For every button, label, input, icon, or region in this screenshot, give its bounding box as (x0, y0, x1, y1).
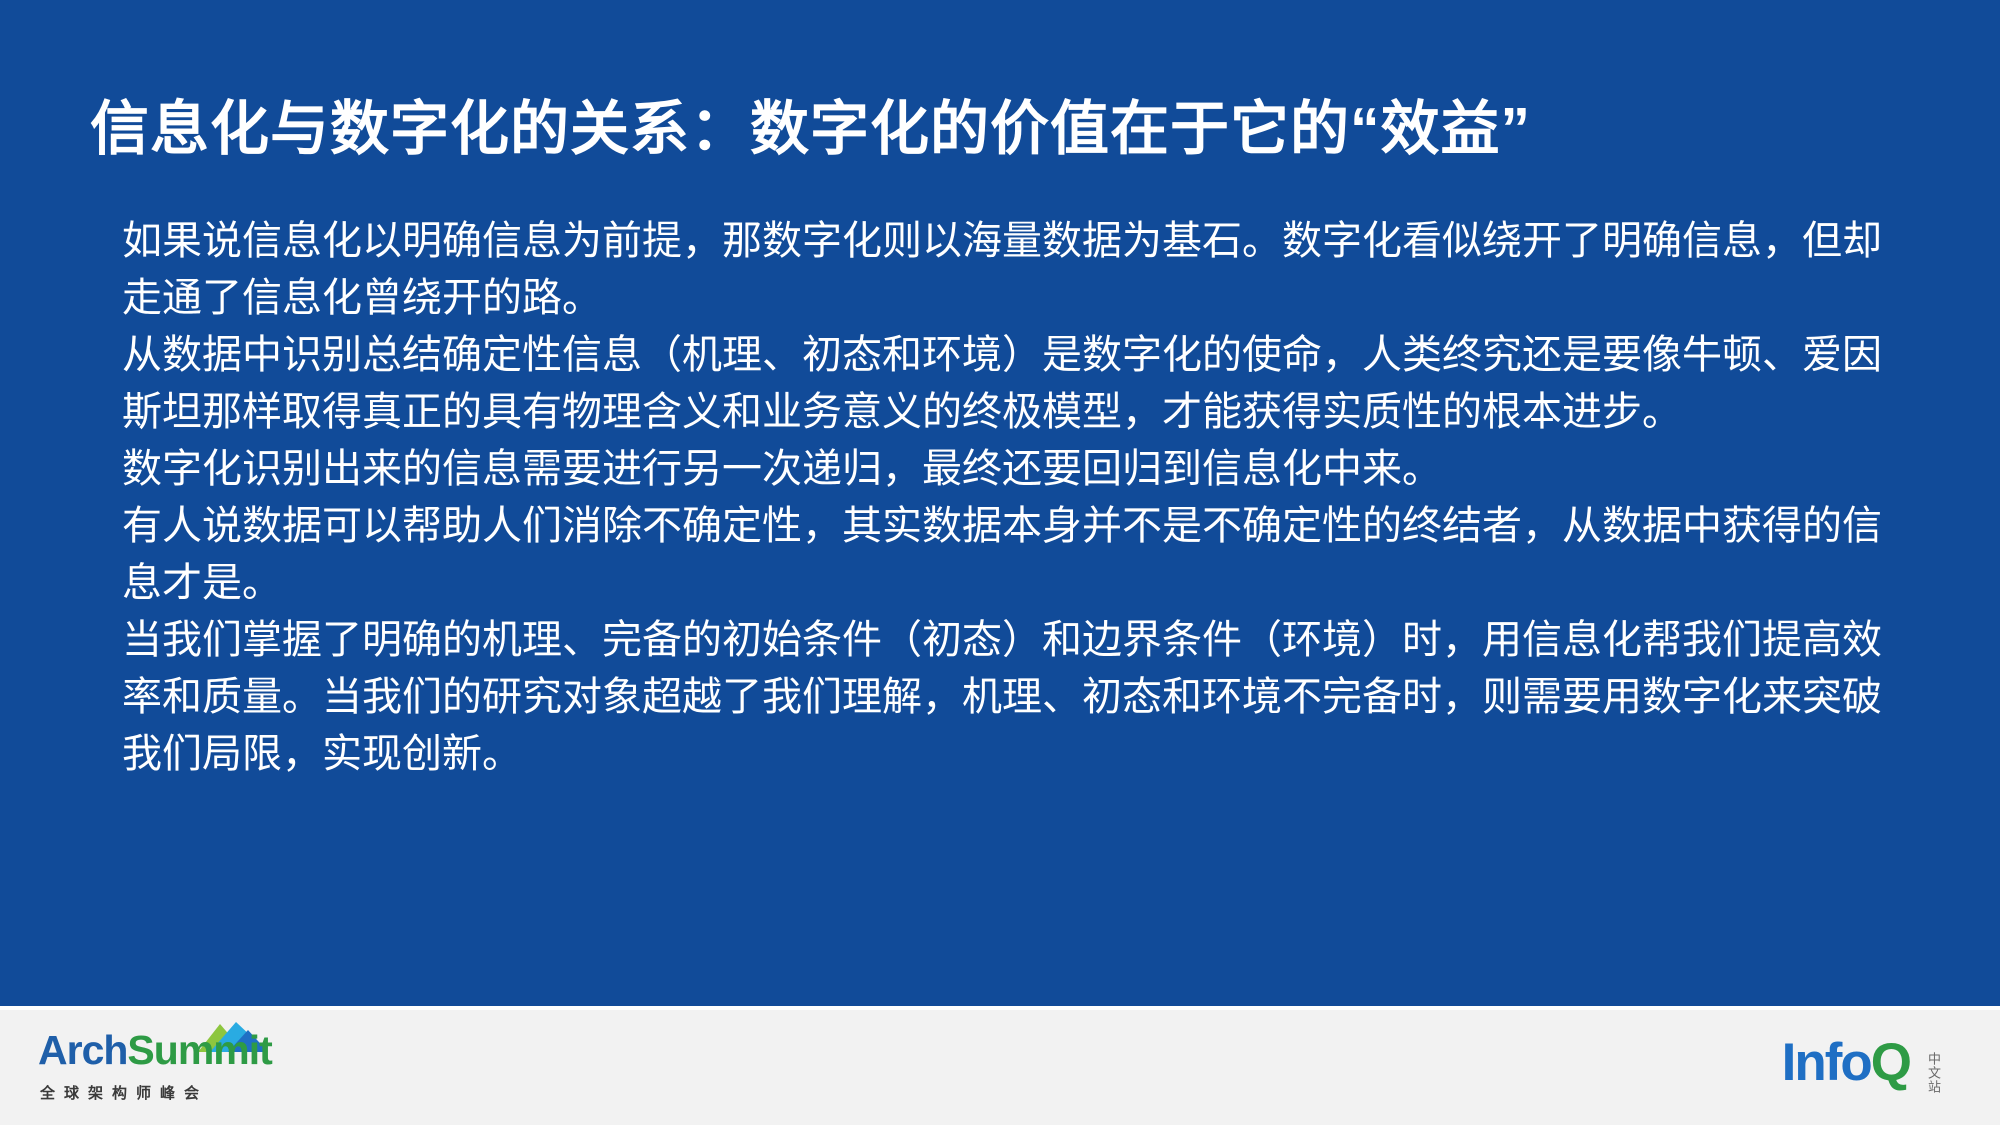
presentation-slide: 信息化与数字化的关系：数字化的价值在于它的“效益” 如果说信息化以明确信息为前提… (0, 0, 2000, 1125)
slide-title: 信息化与数字化的关系：数字化的价值在于它的“效益” (90, 96, 1930, 164)
archsummit-wordmark: ArchSummit (38, 1030, 272, 1071)
archsummit-word-arch: Arch (38, 1027, 127, 1073)
infoq-word-q: Q (1871, 1033, 1910, 1092)
archsummit-word-summit: Summit (127, 1027, 271, 1073)
archsummit-subtitle: 全球架构师峰会 (40, 1082, 208, 1103)
infoq-logo: InfoQ 中文站 (1646, 1036, 1946, 1102)
body-paragraph-3: 数字化识别出来的信息需要进行另一次递归，最终还要回归到信息化中来。 (122, 441, 1882, 498)
body-paragraph-5: 当我们掌握了明确的机理、完备的初始条件（初态）和边界条件（环境）时，用信息化帮我… (122, 612, 1882, 783)
infoq-vertical-text: 中文站 (1927, 1052, 1940, 1094)
slide-footer: ArchSummit 全球架构师峰会 InfoQ 中文站 (0, 1006, 2000, 1125)
body-paragraph-4: 有人说数据可以帮助人们消除不确定性，其实数据本身并不是不确定性的终结者，从数据中… (122, 498, 1882, 612)
archsummit-logo: ArchSummit 全球架构师峰会 (38, 1024, 278, 1116)
body-paragraph-1: 如果说信息化以明确信息为前提，那数字化则以海量数据为基石。数字化看似绕开了明确信… (122, 213, 1882, 327)
infoq-word-info: Info (1782, 1033, 1871, 1092)
body-paragraph-2: 从数据中识别总结确定性信息（机理、初态和环境）是数字化的使命，人类终究还是要像牛… (122, 327, 1882, 441)
slide-body: 如果说信息化以明确信息为前提，那数字化则以海量数据为基石。数字化看似绕开了明确信… (122, 213, 1882, 783)
infoq-wordmark: InfoQ (1782, 1036, 1910, 1089)
